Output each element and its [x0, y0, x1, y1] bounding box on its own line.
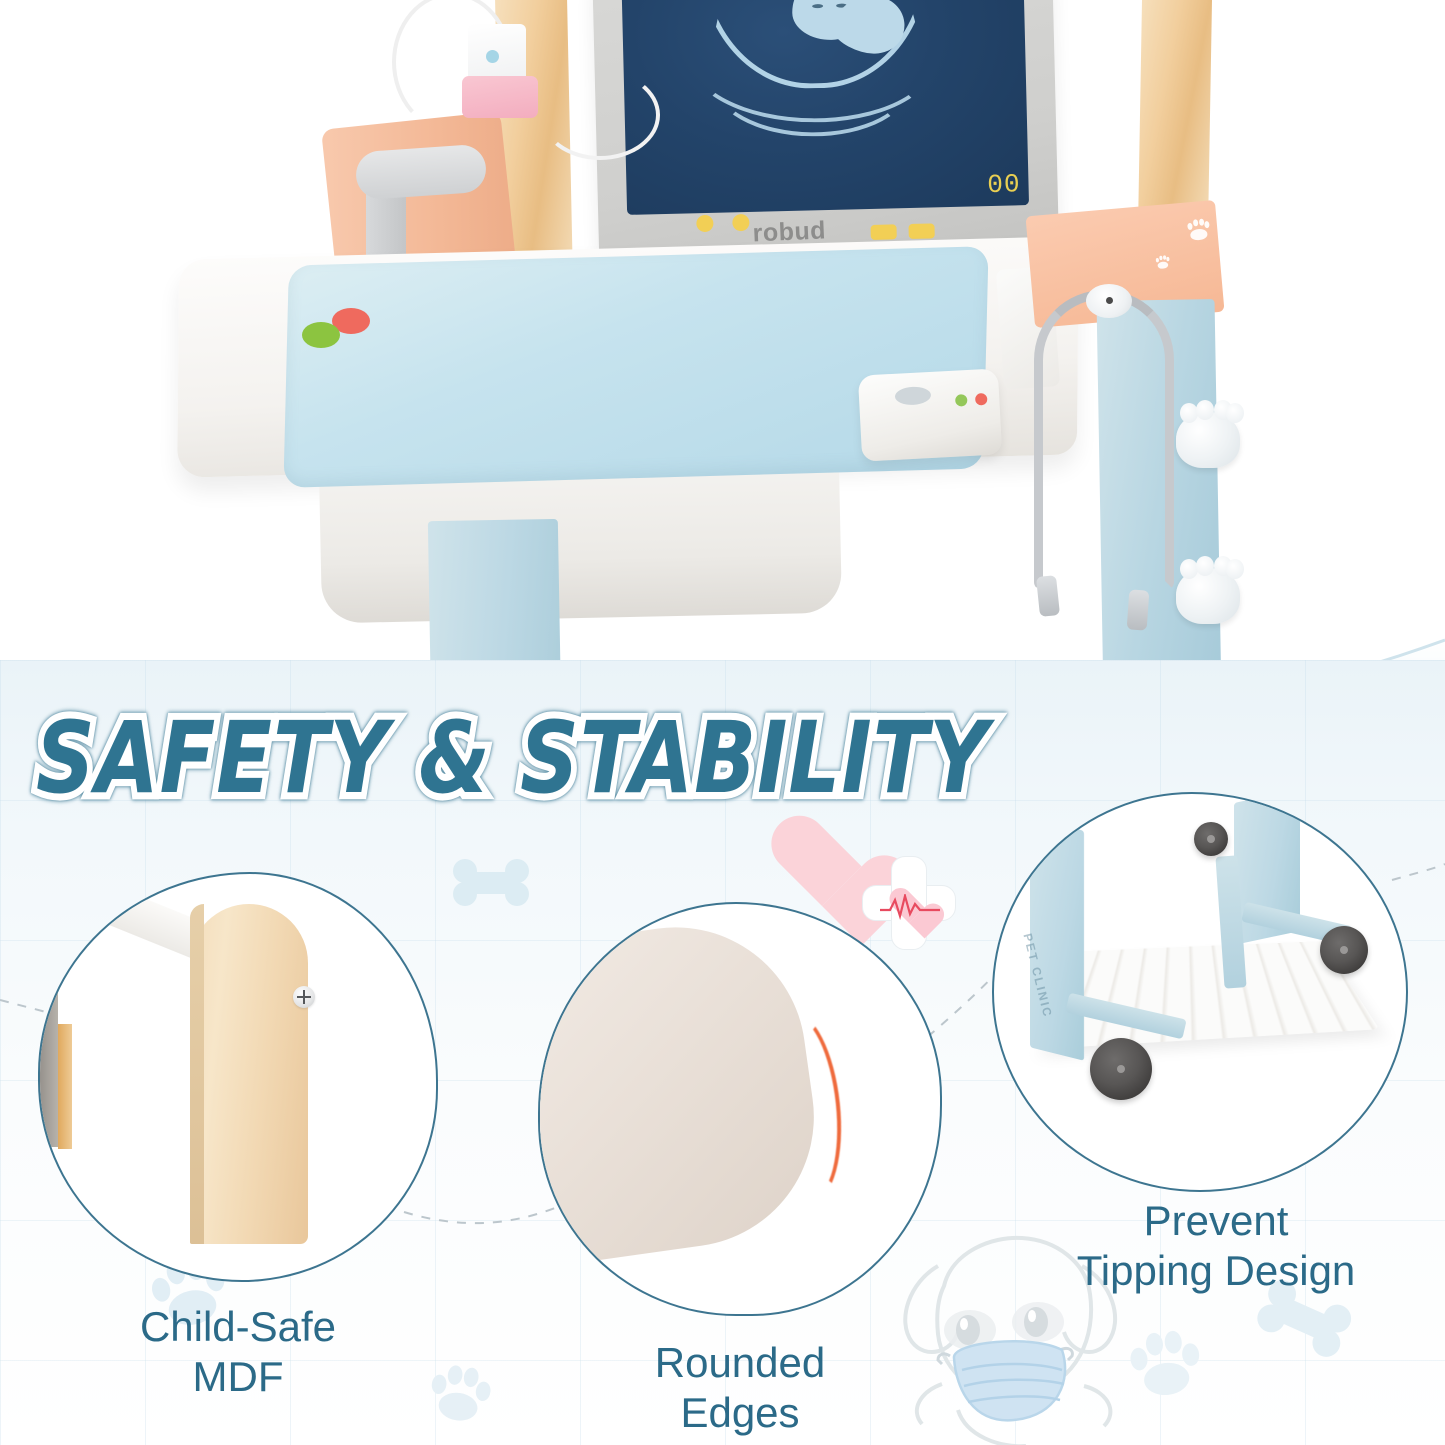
feature-caption-prevent-tipping: Prevent Tipping Design	[1006, 1196, 1426, 1295]
wooden-leg	[190, 904, 308, 1244]
screw-icon	[293, 986, 315, 1008]
background-slab-dark	[38, 992, 58, 1147]
caster-wheel-front-left	[1090, 1038, 1152, 1100]
feature-caption-rounded-edges: Rounded Edges	[538, 1338, 942, 1437]
feature-circle-prevent-tipping: PET CLINIC	[992, 792, 1408, 1192]
product-feature-page: ∨∧∨∧ F F F Dog 00 robud	[0, 0, 1445, 1445]
caster-wheel-rear	[1194, 822, 1228, 856]
side-panel-left	[1030, 817, 1084, 1060]
feature-caption-child-safe-mdf: Child-Safe MDF	[38, 1302, 438, 1401]
background-slab-tan	[58, 1024, 72, 1149]
feature-circle-rounded-edges	[538, 902, 942, 1316]
feature-circle-child-safe-mdf	[38, 872, 438, 1282]
caster-wheel-front-right	[1320, 926, 1368, 974]
